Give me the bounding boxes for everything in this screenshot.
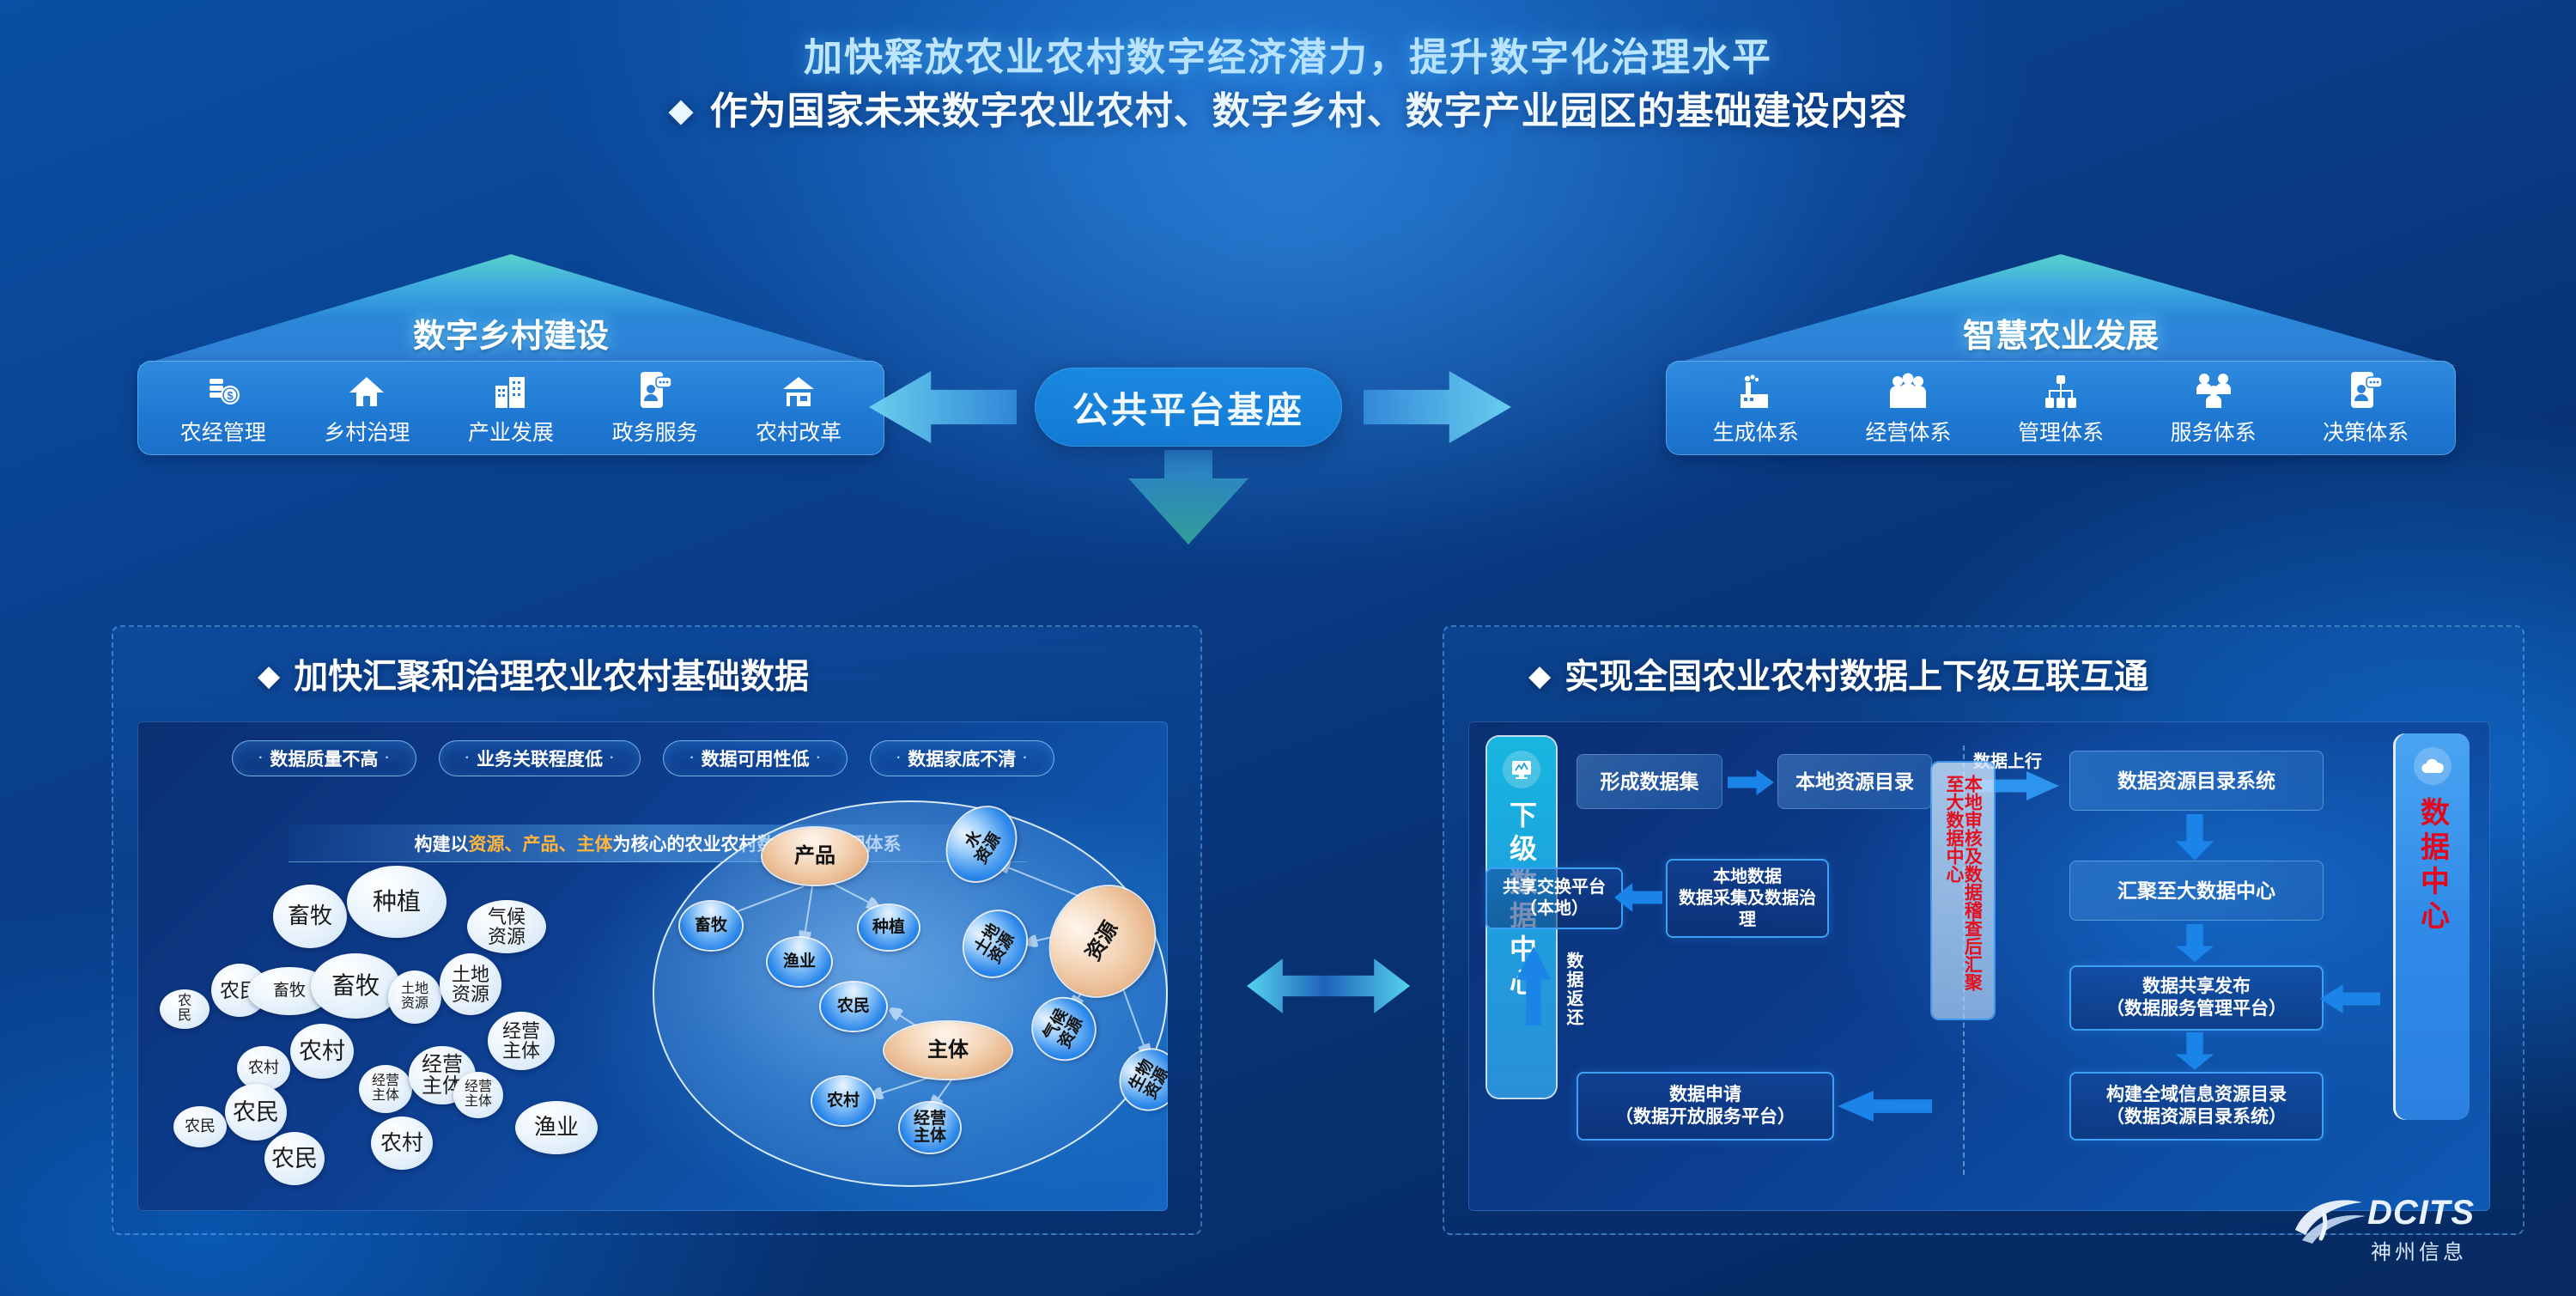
banner-prefix: 构建以 — [415, 831, 469, 856]
feature-nongjing-guanli[interactable]: $ 农经管理 — [173, 370, 274, 447]
feature-guanli-tixi[interactable]: 管理体系 — [2010, 370, 2111, 447]
chaos-node: 畜牧 — [311, 953, 400, 1019]
page-subtitle: ◆作为国家未来数字农业农村、数字乡村、数字产业园区的基础建设内容 — [0, 80, 2576, 135]
buildings-icon — [492, 370, 530, 410]
factory-icon — [1737, 370, 1775, 410]
diamond-bullet-icon: ◆ — [258, 660, 280, 692]
pill-label: 业务关联程度低 — [477, 745, 603, 771]
flow-box-aggregate[interactable]: 汇聚至大数据中心 — [2069, 861, 2324, 921]
pillar-right: 智慧农业发展 生成体系 — [1666, 254, 2456, 460]
feature-label: 乡村治理 — [324, 416, 410, 447]
pill-dot-icon: · — [817, 751, 821, 766]
chaos-node: 种植 — [347, 866, 447, 938]
diamond-bullet-icon: ◆ — [668, 93, 694, 129]
mobile-service-icon — [637, 370, 673, 410]
chaos-node: 农村 — [290, 1024, 354, 1079]
banner-highlight: 资源、产品、主体 — [469, 831, 613, 856]
logo-sub: 神州信息 — [2371, 1235, 2467, 1265]
pill-label: 数据质量不高 — [270, 745, 378, 771]
left-section-heading: ◆加快汇聚和治理农业农村基础数据 — [258, 648, 809, 698]
chaos-node: 经营主体 — [488, 1012, 555, 1070]
feature-label: 生成体系 — [1713, 416, 1799, 447]
audit-strip-text: 本地审核及数据稽查后汇聚至大数据中心 — [1945, 775, 1982, 1007]
chaos-node: 农民 — [160, 989, 210, 1029]
chaos-node: 气候资源 — [467, 900, 546, 953]
data-node: 渔业 — [768, 938, 831, 986]
chaos-node: 土地资源 — [388, 970, 441, 1024]
issue-pill[interactable]: ·数据家底不清· — [870, 740, 1054, 776]
box-label-line1: 构建全域信息资源目录 — [2106, 1084, 2287, 1106]
feature-jingying-tixi[interactable]: 经营体系 — [1857, 370, 1959, 447]
issue-pill-row: ·数据质量不高· ·业务关联程度低· ·数据可用性低· ·数据家底不清· — [232, 740, 1054, 776]
pillar-right-title: 智慧农业发展 — [1666, 309, 2456, 356]
box-label-line1: 数据共享发布 — [2142, 976, 2251, 998]
data-node: 土地资源 — [952, 899, 1039, 988]
box-label-line1: 数据申请 — [1669, 1084, 1741, 1106]
data-node: 经营主体 — [900, 1103, 960, 1153]
organized-node-ellipse: 产品畜牧渔业种植农民主体农村经营主体水资源土地资源资源气候资源生物资源 — [653, 800, 1168, 1187]
issue-pill[interactable]: ·数据可用性低· — [663, 740, 848, 776]
chaos-node: 农民 — [173, 1106, 227, 1147]
feature-label: 产业发展 — [468, 416, 554, 447]
pill-label: 数据家底不清 — [908, 745, 1016, 771]
chaos-node: 渔业 — [515, 1101, 598, 1154]
flow-box-global-directory[interactable]: 构建全域信息资源目录 （数据资源目录系统） — [2069, 1072, 2324, 1141]
hub-node: 资源 — [1030, 867, 1168, 1015]
feature-chanye-fazhan[interactable]: 产业发展 — [460, 370, 562, 447]
flow-box-dataset[interactable]: 形成数据集 — [1577, 754, 1722, 809]
box-label: 数据资源目录系统 — [2117, 769, 2275, 794]
box-label-line2: （数据开放服务平台） — [1615, 1106, 1795, 1129]
pill-dot-icon: · — [385, 751, 389, 766]
pillar-left-title: 数字乡村建设 — [137, 309, 884, 356]
pill-dot-icon: · — [1023, 751, 1027, 766]
arrow-datacenter-to-publish — [2320, 984, 2380, 1013]
box-label-line2: （数据服务管理平台） — [2106, 998, 2287, 1020]
data-node: 水资源 — [934, 794, 1029, 894]
hub-node: 主体 — [884, 1022, 1012, 1079]
feature-nongcun-gaige[interactable]: 农村改革 — [748, 370, 849, 447]
flow-box-exchange-platform[interactable]: 共享交换平台 （本地） — [1485, 867, 1623, 929]
chaotic-node-cloud: 农民农民畜牧畜牧种植畜牧土地资源土地资源气候资源经营主体农村农村农民农民农民经营… — [155, 859, 618, 1202]
arrow-down-icon — [1128, 450, 1249, 545]
feature-juece-tixi[interactable]: 决策体系 — [2315, 370, 2416, 447]
feature-xiangcun-zhili[interactable]: 乡村治理 — [316, 370, 417, 447]
chaos-node: 经营主体 — [359, 1065, 412, 1113]
logo-name: DCITS — [2367, 1194, 2475, 1232]
mobile-service-icon — [2348, 370, 2384, 410]
flow-box-directory-system[interactable]: 数据资源目录系统 — [2069, 751, 2324, 811]
tab-label: 数据中心 — [2412, 797, 2454, 934]
platform-base-badge[interactable]: 公共平台基座 — [1035, 368, 1342, 447]
flow-box-data-apply[interactable]: 数据申请 （数据开放服务平台） — [1577, 1072, 1834, 1141]
arrow-dataset-to-localdir — [1728, 770, 1774, 795]
logo-mark-icon — [2288, 1190, 2371, 1255]
service-people-icon — [2194, 370, 2233, 410]
feature-label: 决策体系 — [2323, 416, 2409, 447]
monitor-chart-icon — [1503, 751, 1540, 788]
data-node: 农村 — [812, 1077, 874, 1125]
arrow-dirsystem-to-aggregate — [2176, 814, 2214, 861]
arrow-globaldir-to-apply — [1838, 1091, 1932, 1122]
company-logo: DCITS 神州信息 — [2288, 1185, 2546, 1280]
hub-node: 产品 — [762, 828, 867, 885]
box-label: 汇聚至大数据中心 — [2117, 879, 2275, 904]
flow-box-local-data[interactable]: 本地数据 数据采集及数据治理 — [1666, 859, 1829, 938]
data-node: 种植 — [859, 905, 919, 950]
flow-box-local-directory[interactable]: 本地资源目录 — [1777, 754, 1932, 809]
chaos-node: 畜牧 — [273, 885, 347, 948]
subtitle-text: 作为国家未来数字农业农村、数字乡村、数字产业园区的基础建设内容 — [710, 90, 1908, 132]
arrow-aggregate-to-publish — [2176, 924, 2214, 962]
infographic-canvas: 加快释放农业农村数字经济潜力，提升数字化治理水平 ◆作为国家未来数字农业农村、数… — [0, 0, 2576, 1296]
feature-label: 农村改革 — [756, 416, 841, 447]
box-label-line2: 数据采集及数据治理 — [1673, 888, 1822, 931]
pill-dot-icon: · — [896, 751, 901, 766]
right-heading-text: 实现全国农业农村数据上下级互联互通 — [1564, 658, 2148, 696]
pillar-left-base: $ 农经管理 乡村治理 — [137, 361, 884, 455]
data-center-tab[interactable]: 数据中心 — [2396, 733, 2470, 1120]
right-flow-stage: 下级数据中心 数据中心 形成数据集 本地资源目录 数据上行 数据资源目录系统 — [1468, 721, 2490, 1211]
feature-fuwu-tixi[interactable]: 服务体系 — [2163, 370, 2264, 447]
issue-pill[interactable]: ·数据质量不高· — [232, 740, 416, 776]
pill-dot-icon: · — [690, 751, 694, 766]
pill-dot-icon: · — [465, 751, 470, 766]
village-gate-icon — [780, 370, 817, 410]
box-label-line2: （数据资源目录系统） — [2106, 1106, 2287, 1129]
feature-label: 经营体系 — [1865, 416, 1951, 447]
right-section-heading: ◆实现全国农业农村数据上下级互联互通 — [1528, 648, 2148, 698]
svg-text:$: $ — [227, 389, 234, 402]
feature-label: 政务服务 — [612, 416, 698, 447]
feature-shengcheng-tixi[interactable]: 生成体系 — [1705, 370, 1807, 447]
left-heading-text: 加快汇聚和治理农业农村基础数据 — [294, 658, 809, 696]
money-stack-icon: $ — [204, 370, 242, 410]
data-node: 气候资源 — [1023, 988, 1105, 1070]
box-label-line1: 本地数据 — [1713, 867, 1782, 888]
bidirectional-arrow-icon — [1247, 953, 1410, 1019]
audit-vertical-strip: 本地审核及数据稽查后汇聚至大数据中心 — [1932, 763, 1994, 1019]
page-title: 加快释放农业农村数字经济潜力，提升数字化治理水平 — [0, 26, 2576, 82]
chaos-node: 农民 — [225, 1084, 287, 1141]
data-node: 生物资源 — [1110, 1040, 1168, 1120]
cloud-icon — [2414, 747, 2451, 785]
arrow-left-icon — [869, 371, 1017, 443]
box-label-line2: （本地） — [1520, 898, 1589, 920]
left-data-stage: ·数据质量不高· ·业务关联程度低· ·数据可用性低· ·数据家底不清· 构建以… — [137, 721, 1168, 1211]
chaos-node: 经营主体 — [453, 1072, 503, 1118]
data-node: 农民 — [821, 983, 886, 1031]
feature-label: 管理体系 — [2018, 416, 2104, 447]
box-label: 本地资源目录 — [1795, 770, 1914, 794]
pill-label: 数据可用性低 — [702, 745, 810, 771]
box-label: 形成数据集 — [1601, 770, 1699, 794]
box-label-line1: 共享交换平台 — [1503, 877, 1606, 898]
label-data-return: 数据返还 — [1561, 952, 1586, 1027]
arrow-right-icon — [1364, 371, 1511, 443]
pillar-right-base: 生成体系 经营体系 — [1666, 361, 2456, 455]
pillar-left: 数字乡村建设 $ 农经管理 — [137, 254, 884, 460]
chaos-node: 农民 — [264, 1132, 325, 1185]
flow-box-publish[interactable]: 数据共享发布 （数据服务管理平台） — [2069, 965, 2324, 1031]
pill-dot-icon: · — [610, 751, 614, 766]
house-icon — [348, 370, 386, 410]
pill-dot-icon: · — [258, 751, 263, 766]
data-node: 畜牧 — [680, 902, 742, 950]
people-group-icon — [1888, 370, 1928, 410]
feature-label: 农经管理 — [180, 416, 266, 447]
chaos-node: 农村 — [371, 1117, 433, 1170]
feature-zhengwu-fuwu[interactable]: 政务服务 — [605, 370, 706, 447]
org-chart-icon — [2042, 370, 2080, 410]
diamond-bullet-icon: ◆ — [1528, 660, 1551, 692]
chaos-node: 土地资源 — [440, 953, 501, 1015]
issue-pill[interactable]: ·业务关联程度低· — [439, 740, 641, 776]
feature-label: 服务体系 — [2171, 416, 2257, 447]
arrow-publish-to-globaldir — [2176, 1032, 2214, 1070]
